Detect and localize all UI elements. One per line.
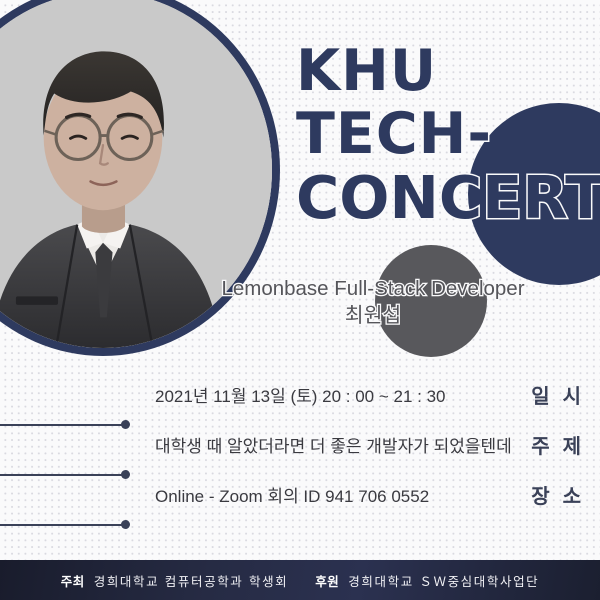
- detail-row-datetime: 일 시 2021년 11월 13일 (토) 20 : 00 ~ 21 : 30: [0, 382, 600, 432]
- detail-row-topic: 주 제 대학생 때 알았더라면 더 좋은 개발자가 되었을텐데: [0, 432, 600, 482]
- bullet-dot-icon: [121, 520, 130, 529]
- detail-label-location: 장 소: [468, 482, 600, 510]
- speaker-subtitle: Lemonbase Full-Stack Developer 최원섭: [150, 275, 596, 329]
- title-line-2: TECH-: [296, 103, 596, 166]
- title-line-3: CONCERT: [296, 166, 596, 229]
- title-line-1: KHU: [296, 40, 596, 103]
- detail-label-datetime: 일 시: [468, 382, 600, 410]
- footer-host-value: 경희대학교 컴퓨터공학과 학생회: [94, 571, 289, 590]
- detail-rule: [0, 424, 125, 426]
- detail-value-datetime: 2021년 11월 13일 (토) 20 : 00 ~ 21 : 30: [155, 383, 446, 411]
- poster-canvas: KHU TECH- CONCERT Lemonbase Full-Stack D…: [0, 0, 600, 600]
- event-details: 일 시 2021년 11월 13일 (토) 20 : 00 ~ 21 : 30 …: [0, 382, 600, 532]
- bullet-dot-icon: [121, 420, 130, 429]
- footer-host-label: 주최: [61, 571, 85, 590]
- footer-sponsor-label: 후원: [315, 571, 339, 590]
- speaker-role: Lemonbase Full-Stack Developer: [221, 277, 524, 300]
- detail-rule: [0, 474, 125, 476]
- detail-row-location: 장 소 Online - Zoom 회의 ID 941 706 0552: [0, 482, 600, 532]
- bullet-dot-icon: [121, 470, 130, 479]
- footer-sponsor-value: 경희대학교 ＳＷ중심대학사업단: [348, 571, 539, 590]
- detail-rule: [0, 524, 125, 526]
- poster-title: KHU TECH- CONCERT: [296, 40, 596, 229]
- speaker-name: 최원섭: [150, 302, 596, 329]
- footer-bar: 주최 경희대학교 컴퓨터공학과 학생회 후원 경희대학교 ＳＷ중심대학사업단: [0, 560, 600, 600]
- photo-corner-fill: [0, 0, 30, 54]
- detail-value-location: Online - Zoom 회의 ID 941 706 0552: [155, 483, 429, 511]
- detail-value-topic: 대학생 때 알았더라면 더 좋은 개발자가 되었을텐데: [155, 433, 512, 461]
